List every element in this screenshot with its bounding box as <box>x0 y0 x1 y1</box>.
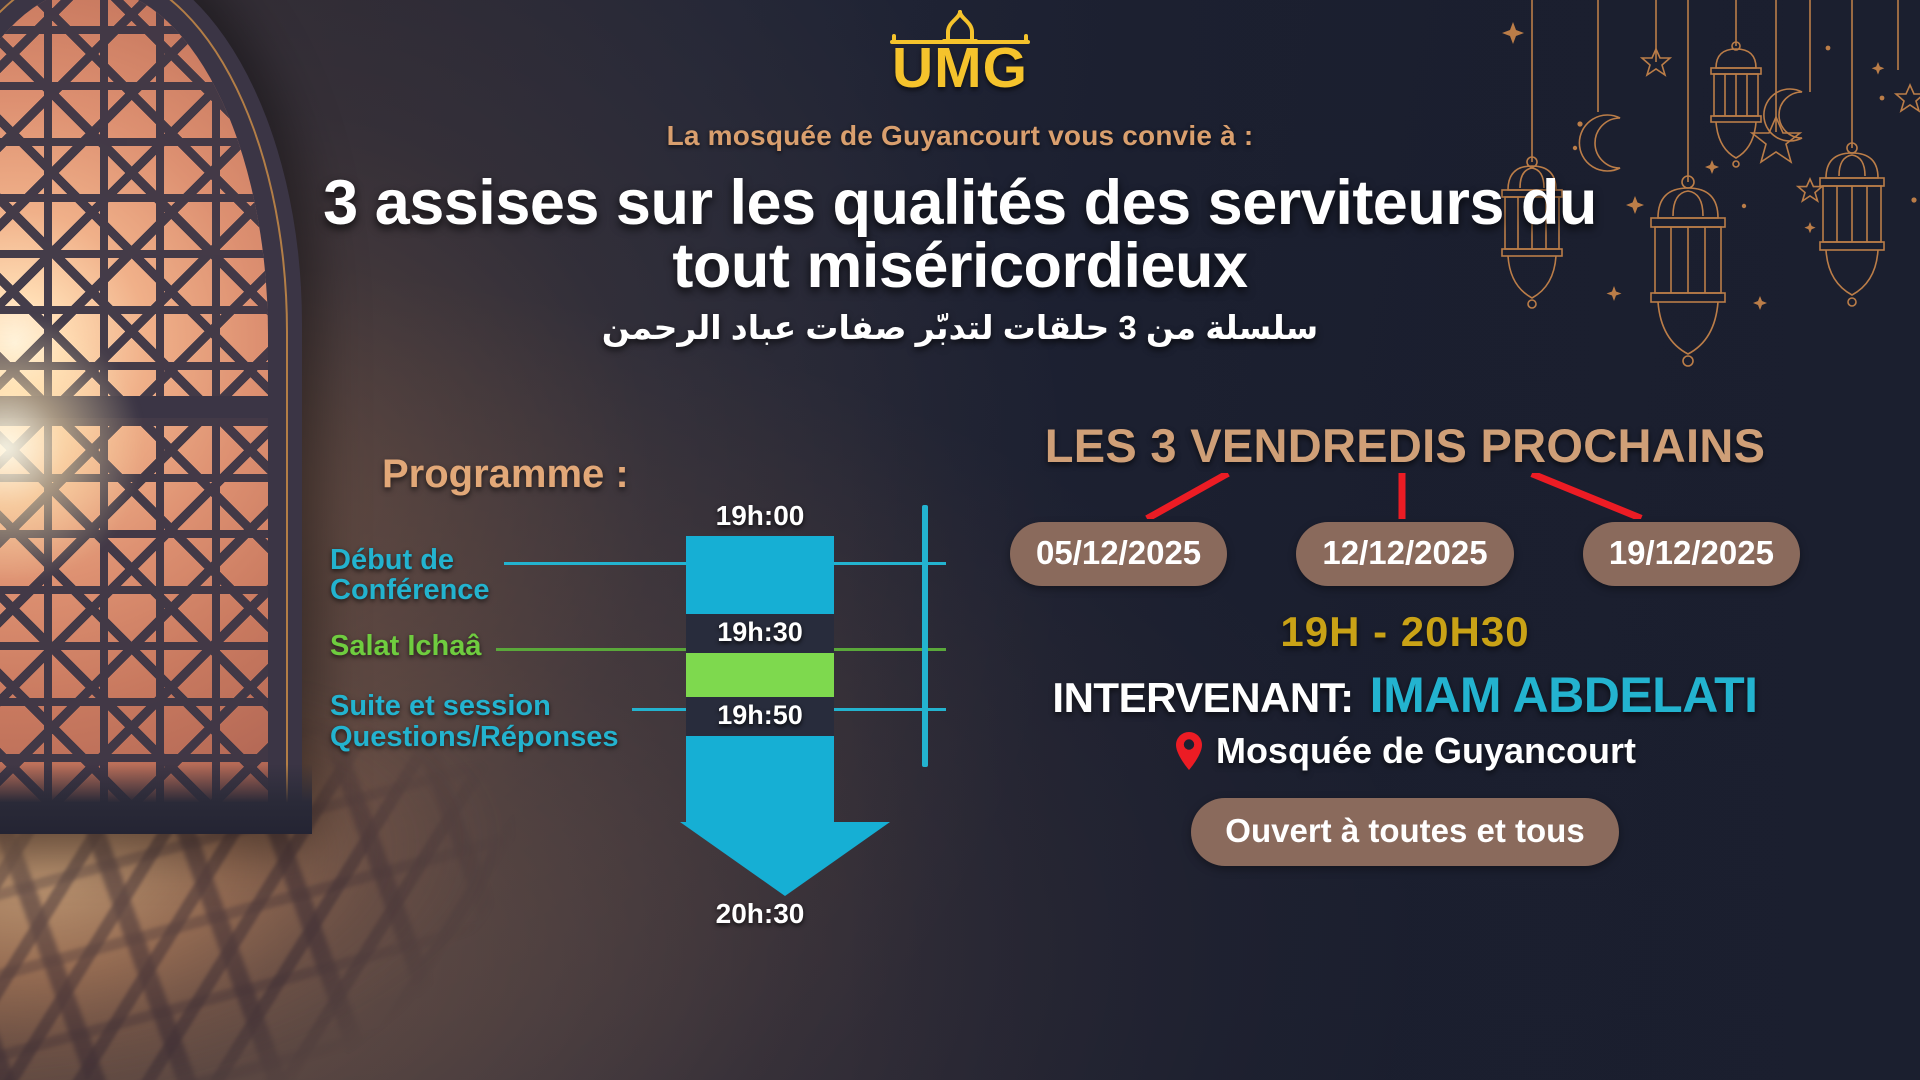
timeline-segment-salat <box>686 653 834 697</box>
date-connector-lines <box>1010 473 1800 519</box>
programme-items: Début de Conférence Salat Ichaâ Suite et… <box>330 545 950 752</box>
date-pill-2[interactable]: 12/12/2025 <box>1296 522 1513 586</box>
date-pill-list: 05/12/2025 12/12/2025 19/12/2025 <box>1010 522 1800 586</box>
umg-logo: UMG <box>0 8 1920 94</box>
programme-heading: Programme : <box>382 452 938 497</box>
programme-timeline: 19h:00 19h:30 19h:50 20h:30 <box>680 500 840 930</box>
open-notice-pill: Ouvert à toutes et tous <box>1191 798 1618 866</box>
location-pin-icon <box>1174 731 1204 771</box>
logo-wordmark: UMG <box>892 42 1028 94</box>
column-divider <box>922 505 928 767</box>
timeline-marker-1930: 19h:30 <box>686 614 834 653</box>
event-poster: UMG La mosquée de Guyancourt vous convie… <box>0 0 1920 1080</box>
venue-name: Mosquée de Guyancourt <box>1216 730 1636 772</box>
date-pill-1[interactable]: 05/12/2025 <box>1010 522 1227 586</box>
programme-item-3: Suite et session Questions/Réponses <box>330 691 950 751</box>
arch-base-shadow <box>0 764 312 834</box>
speaker-name: IMAM ABDELATI <box>1370 666 1758 724</box>
schedule-section: LES 3 VENDREDIS PROCHAINS 05/12/2025 12/… <box>1010 418 1800 866</box>
page-title-arabic: سلسلة من 3 حلقات لتدبّر صفات عباد الرحمن <box>0 308 1920 347</box>
programme-section: Programme : <box>378 452 938 497</box>
open-notice-row: Ouvert à toutes et tous <box>1010 798 1800 866</box>
timeline-segment-conference <box>686 536 834 614</box>
timeline-segment-questions <box>686 736 834 822</box>
event-hours: 19H - 20H30 <box>1010 608 1800 656</box>
poster-header: La mosquée de Guyancourt vous convie à :… <box>0 120 1920 347</box>
programme-item-label: Début de Conférence <box>330 545 490 605</box>
speaker-row: INTERVENANT: IMAM ABDELATI <box>1010 666 1800 724</box>
programme-item-1: Début de Conférence <box>330 545 950 605</box>
date-pill-3[interactable]: 19/12/2025 <box>1583 522 1800 586</box>
timeline-arrow-head <box>680 822 890 896</box>
page-title: 3 assises sur les qualités des serviteur… <box>0 172 1920 298</box>
speaker-label: INTERVENANT: <box>1052 674 1353 722</box>
timeline-start-time: 19h:00 <box>680 500 840 532</box>
timeline-end-time: 20h:30 <box>680 898 840 930</box>
programme-item-label: Salat Ichaâ <box>330 631 482 661</box>
programme-item-label: Suite et session Questions/Réponses <box>330 691 618 751</box>
timeline-marker-1950: 19h:50 <box>686 697 834 736</box>
arch-mid-band <box>0 396 268 418</box>
programme-item-2: Salat Ichaâ <box>330 631 950 661</box>
invitation-line: La mosquée de Guyancourt vous convie à : <box>0 120 1920 152</box>
fridays-heading: LES 3 VENDREDIS PROCHAINS <box>1010 418 1800 473</box>
venue-row: Mosquée de Guyancourt <box>1010 730 1800 772</box>
